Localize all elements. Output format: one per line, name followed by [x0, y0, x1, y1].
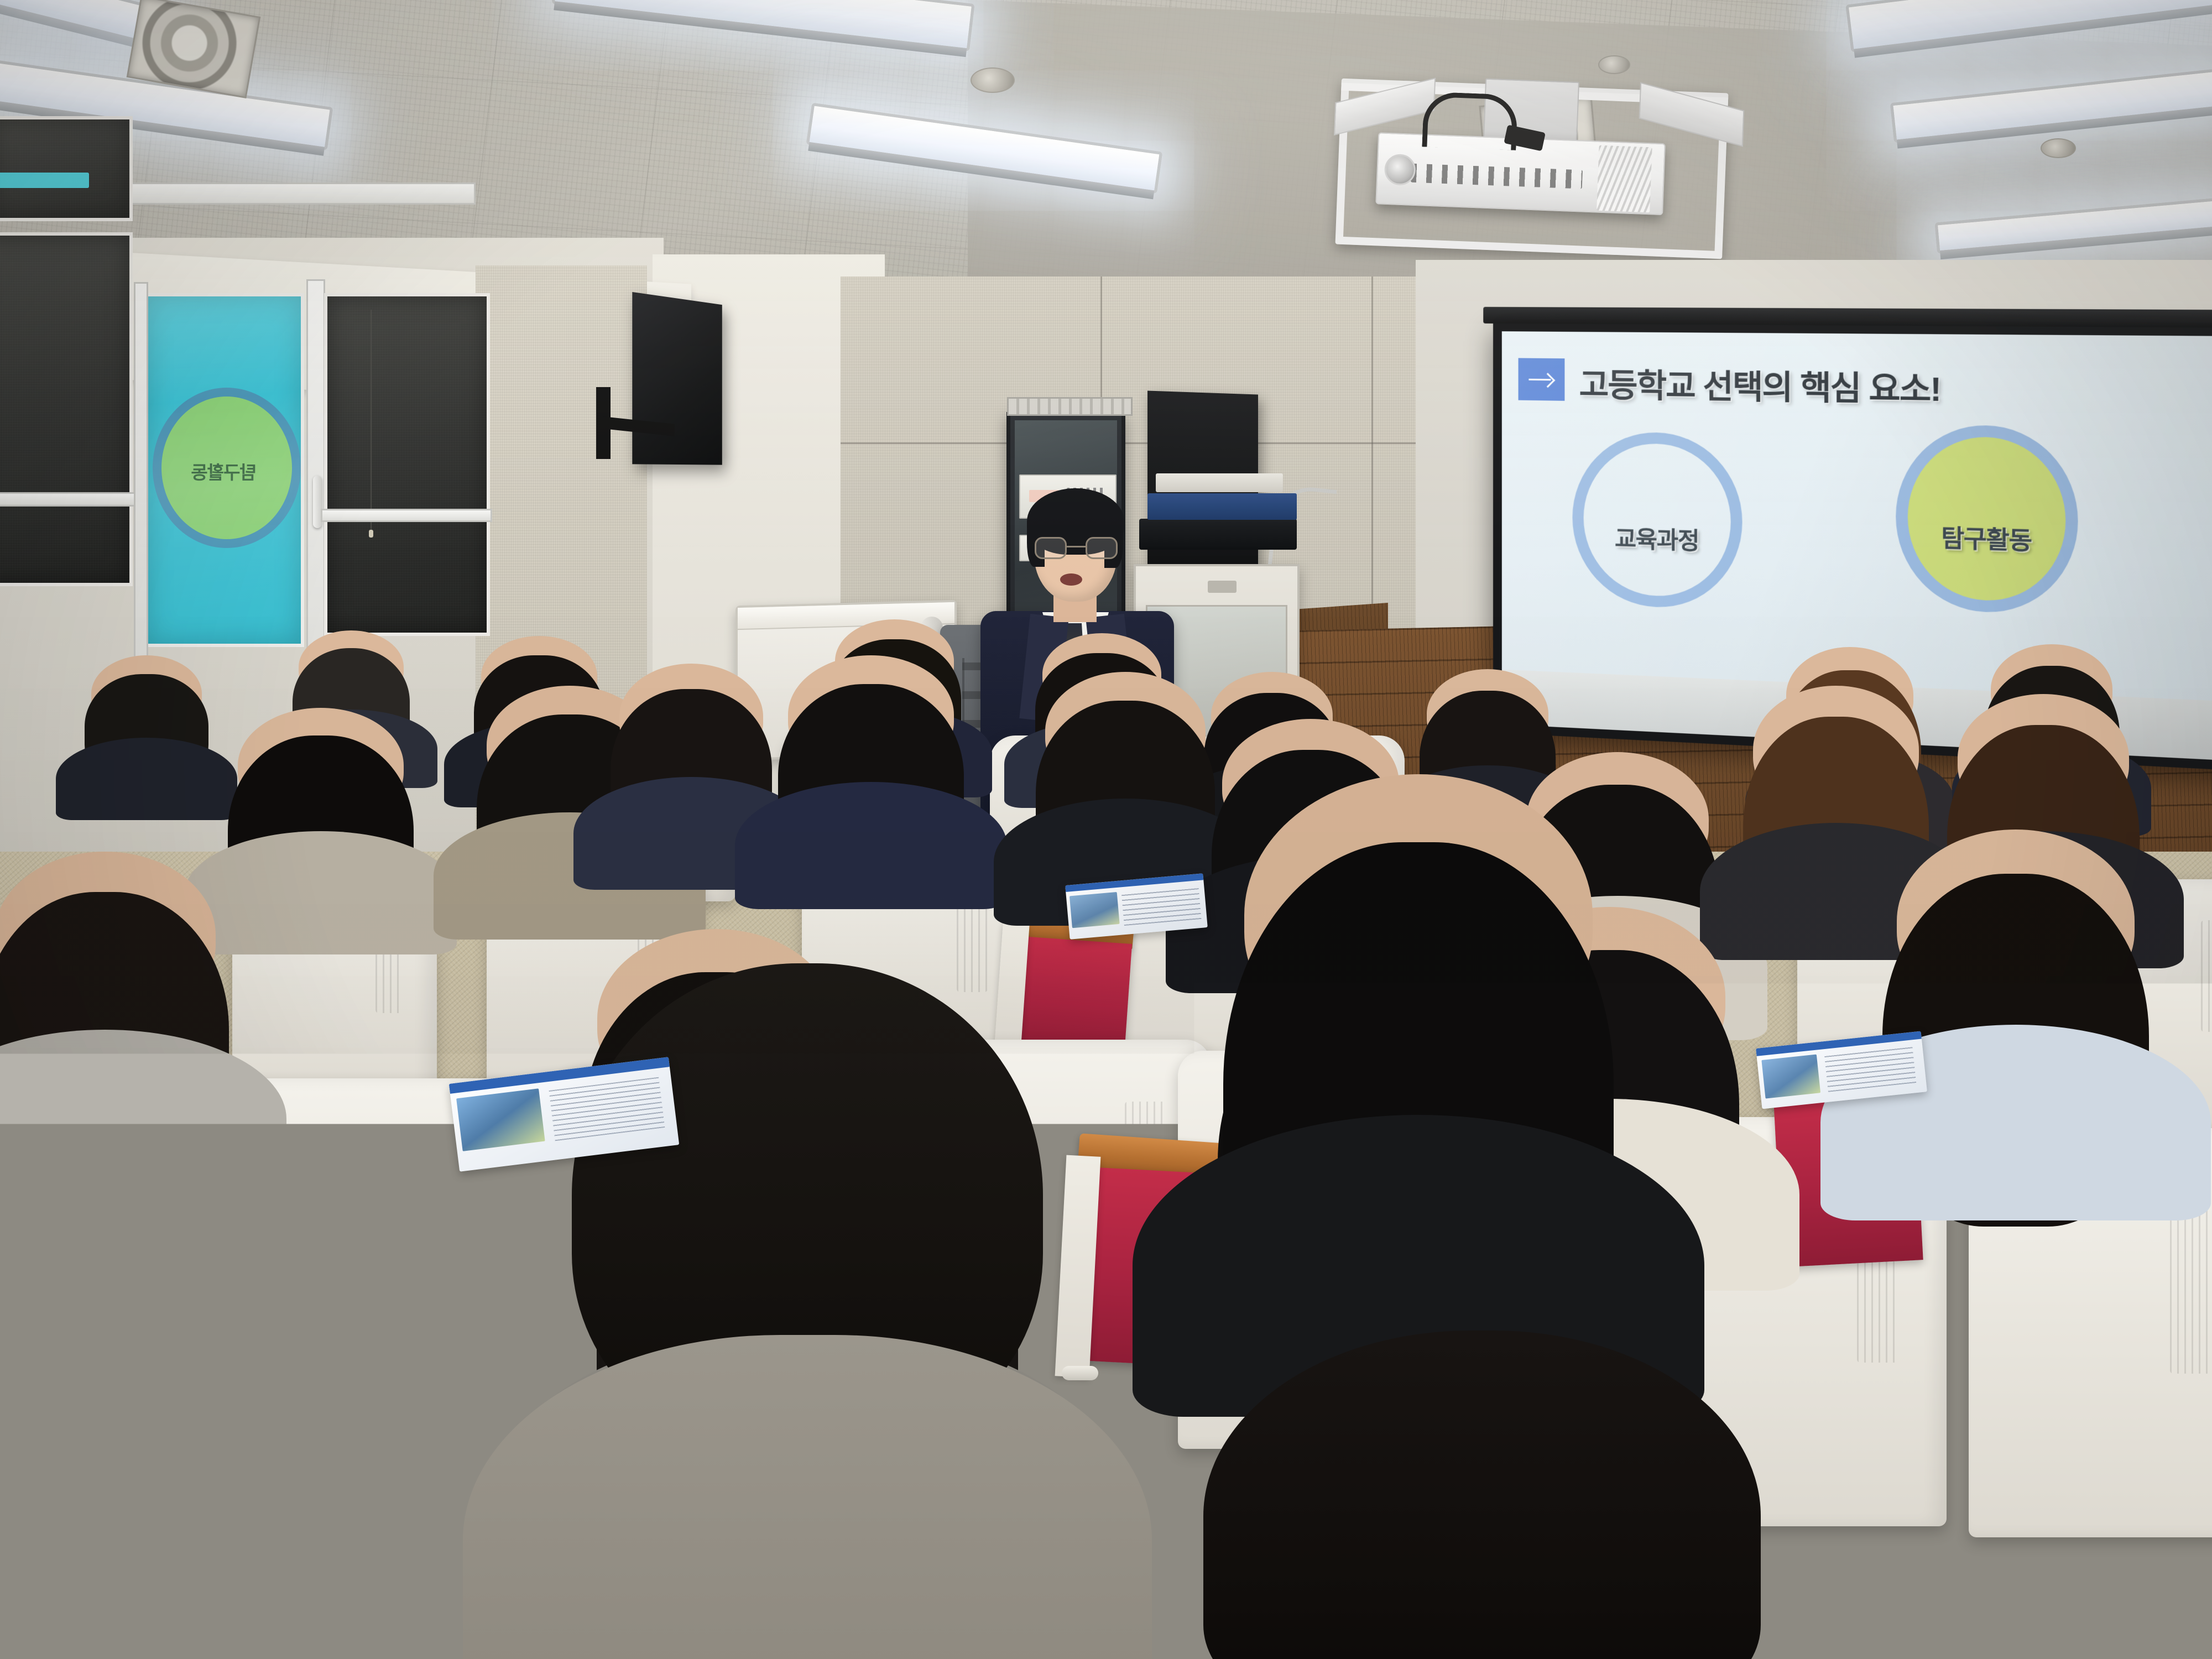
- projector-ports: [1411, 164, 1583, 189]
- window-screen-mesh: [327, 296, 487, 633]
- audience-member-foreground: [597, 951, 1018, 1571]
- seat-back-ridges: [2201, 920, 2212, 1032]
- presenter-glasses-icon: [1035, 537, 1118, 559]
- glasses-bridge: [1067, 546, 1086, 547]
- brochure-accent-band: [231, 1319, 249, 1381]
- audience-member: [1897, 830, 2135, 1145]
- presenter-mouth: [1060, 573, 1082, 586]
- slide-circle-curriculum: 교육과정: [1572, 431, 1742, 611]
- slide-circle-label: 탐구활동: [1941, 519, 2031, 557]
- audience-member: [1753, 686, 1919, 907]
- brochure-text-lines: [1824, 1046, 1916, 1092]
- slide-accent-tag: [1519, 358, 1565, 400]
- person-shoulders: [56, 738, 237, 820]
- right-arrow-icon: [1528, 372, 1554, 387]
- ceiling-projector-mount: [1335, 79, 1728, 259]
- brochure-text-lines: [61, 1321, 233, 1399]
- audience-member-foreground: [1244, 774, 1593, 1261]
- window-screen-mesh: [0, 236, 129, 583]
- window-transom-glass: [0, 116, 133, 221]
- person-shoulders: [185, 831, 457, 954]
- blind-pull-cord[interactable]: [371, 310, 372, 531]
- window-light-reflection: [0, 173, 89, 188]
- window-mullion: [306, 279, 325, 666]
- podium-latch[interactable]: [1208, 581, 1237, 593]
- sprinkler-head-icon: [1598, 55, 1630, 74]
- window-glass-reflection: 탐구활동: [144, 293, 304, 647]
- person-hair: [1869, 1248, 2212, 1659]
- sprinkler-head-icon: [2041, 138, 2076, 158]
- audience-member: [619, 664, 763, 846]
- projector-vent: [1597, 145, 1652, 213]
- window-glass-left: [0, 232, 133, 586]
- slide-circle-label: 교육과정: [1615, 519, 1699, 556]
- glass-sheen: [147, 296, 301, 644]
- person-shoulders: [735, 782, 1007, 909]
- sprinkler-head-icon: [971, 67, 1015, 93]
- audience-member-foreground: [1233, 1272, 1731, 1659]
- slide-circle-inquiry: 탐구활동: [1896, 424, 2078, 615]
- window-mullion: [134, 282, 148, 664]
- wall-mounted-speaker-left: [632, 292, 722, 465]
- audience-member: [1045, 672, 1206, 877]
- audience-member: [788, 655, 954, 860]
- audience-member-foreground: [1891, 1178, 2212, 1659]
- seat-base-foot: [1062, 1366, 1098, 1380]
- projector-cable: [1422, 91, 1518, 150]
- audience-member: [0, 852, 216, 1139]
- seat-side-panel: [357, 1188, 522, 1383]
- rack-top-vent: [1007, 397, 1133, 416]
- audience-member: [238, 708, 404, 907]
- brochure-photo: [0, 1336, 59, 1404]
- slide-title: 고등학교 선택의 핵심 요소!: [1579, 358, 1940, 410]
- auditorium-presentation-photo: 탐구활동 고등학교 선택의 핵심 요소! 교육과정: [0, 0, 2212, 1659]
- brochure-photo: [456, 1088, 545, 1151]
- glasses-lens: [1035, 537, 1067, 559]
- brochure-photo: [1070, 892, 1120, 928]
- glasses-lens: [1086, 537, 1118, 559]
- brochure-text-lines: [1121, 887, 1202, 926]
- window-screen-mesh: [0, 119, 129, 218]
- window-mullion: [0, 492, 138, 507]
- window-glass-right: [324, 293, 490, 636]
- audience-member: [91, 655, 202, 788]
- window-mullion: [321, 509, 492, 522]
- brochure-text-lines: [549, 1077, 665, 1141]
- brochure-photo: [1761, 1055, 1820, 1099]
- window-wall: 탐구활동: [0, 182, 487, 735]
- person-hair: [1203, 1331, 1761, 1659]
